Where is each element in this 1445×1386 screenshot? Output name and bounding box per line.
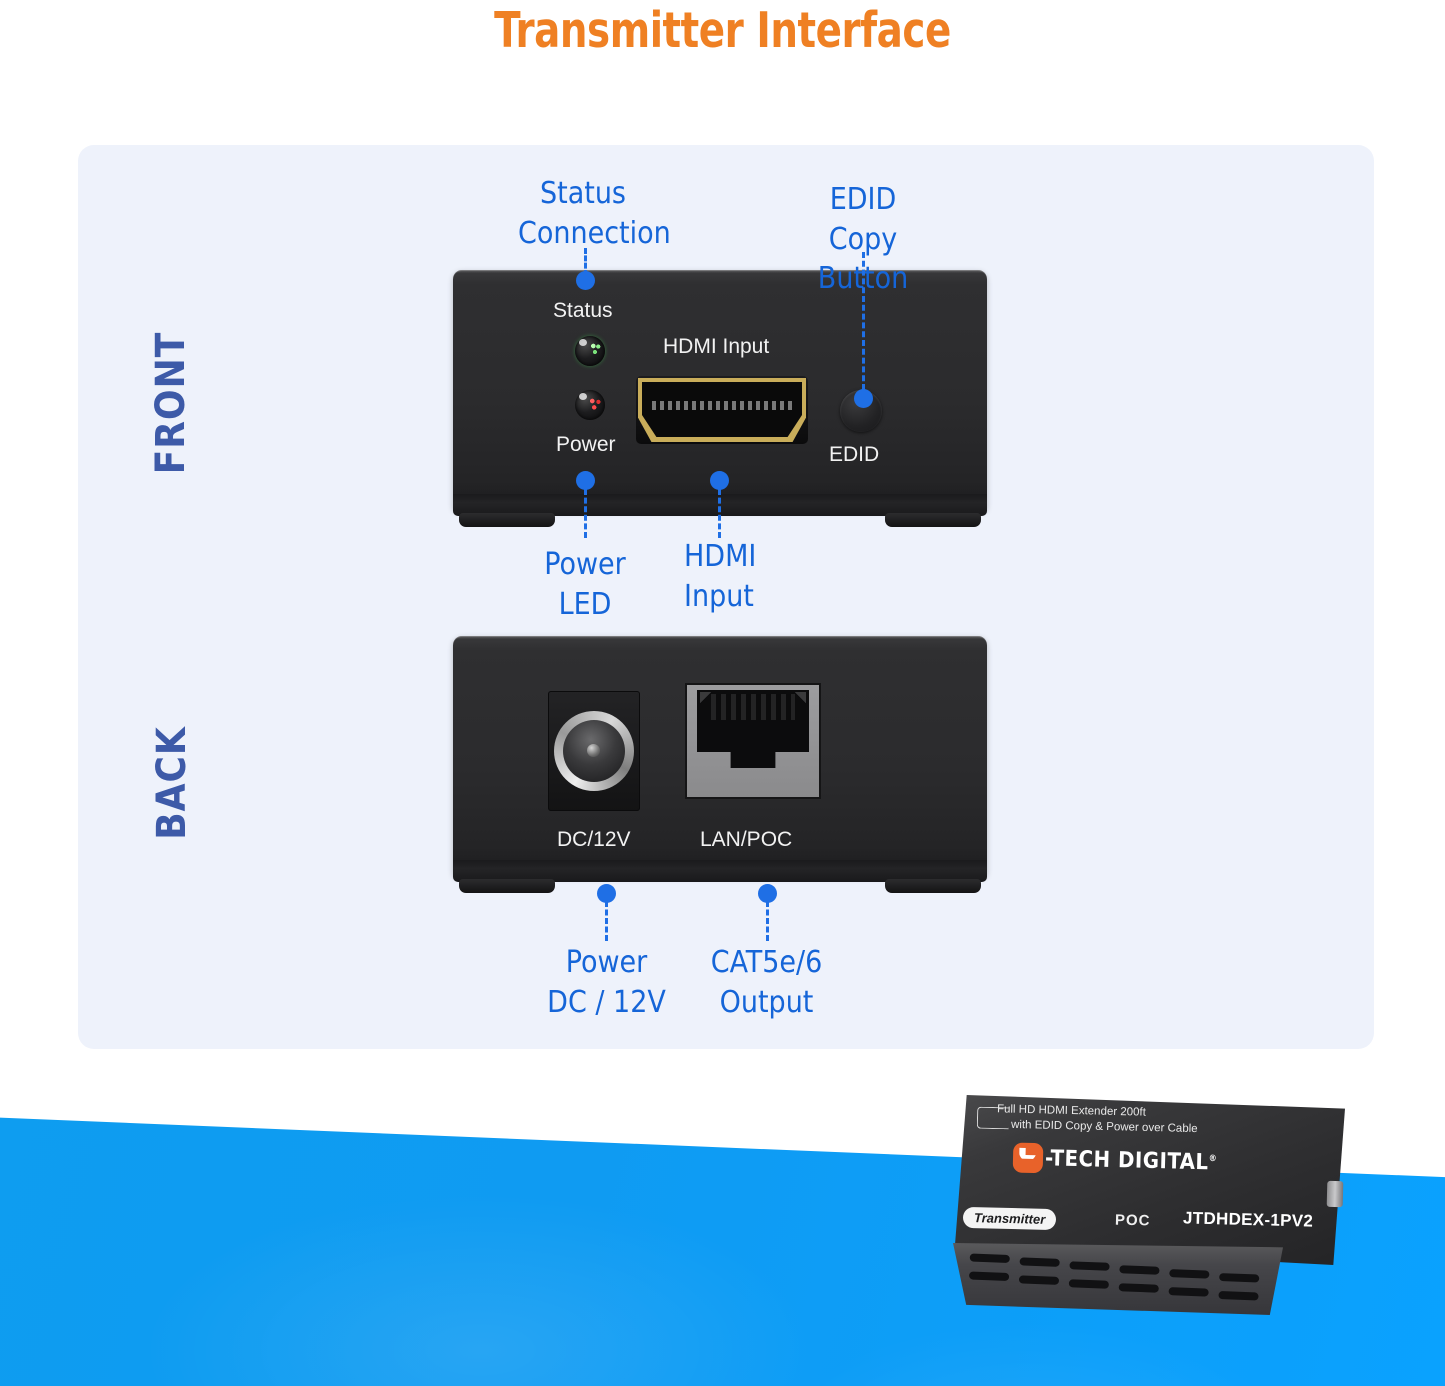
- dc-jack-pin: [587, 744, 600, 757]
- dot-edid-copy: [854, 389, 873, 408]
- j-swoosh-icon: [1013, 1143, 1044, 1174]
- transmitter-badge: Transmitter: [963, 1207, 1057, 1230]
- leader-cat5e-output: [766, 901, 769, 941]
- brand-name: -TECH DIGITAL®: [1045, 1146, 1218, 1175]
- edid-label: EDID: [829, 443, 879, 467]
- power-label: Power: [556, 433, 616, 457]
- side-label-front: FRONT: [148, 318, 194, 488]
- page-title: Transmitter Interface: [87, 2, 1359, 59]
- lan-label: LAN/POC: [700, 828, 792, 852]
- rj45-pins: [711, 694, 795, 720]
- side-label-back: BACK: [149, 703, 195, 863]
- status-label: Status: [553, 299, 613, 323]
- back-chassis-foot-right: [885, 879, 981, 893]
- product-photo: Full HD HDMI Extender 200ft with EDID Co…: [945, 1095, 1345, 1325]
- callout-power-dc: Power DC / 12V: [534, 943, 679, 1022]
- leader-power-dc: [605, 901, 608, 941]
- chassis-foot-left: [459, 513, 555, 527]
- dot-status-connection: [576, 271, 595, 290]
- power-led: [575, 390, 605, 420]
- hdmi-input-label: HDMI Input: [663, 335, 769, 359]
- callout-power-led: Power LED: [524, 545, 646, 624]
- hdmi-pins: [652, 401, 792, 410]
- rj45-port[interactable]: [697, 690, 809, 790]
- chassis-foot-right: [885, 513, 981, 527]
- back-panel-device: DC/12V LAN/POC: [453, 636, 987, 898]
- callout-cat5e-output: CAT5e/6 Output: [700, 943, 833, 1022]
- rj45-bezel: [685, 683, 821, 799]
- dot-hdmi-input: [710, 471, 729, 490]
- hdmi-port[interactable]: [636, 376, 808, 444]
- leader-power-led: [584, 489, 587, 538]
- dc-label: DC/12V: [557, 828, 631, 852]
- leader-edid-copy: [862, 252, 865, 390]
- brand-logo: -TECH DIGITAL®: [1013, 1143, 1218, 1178]
- callout-hdmi-input: HDMI Input: [684, 537, 814, 616]
- dot-power-led: [576, 471, 595, 490]
- status-led: [575, 336, 605, 366]
- poc-marking: POC: [1115, 1212, 1151, 1230]
- model-number: JTDHDEX-1PV2: [1183, 1208, 1314, 1231]
- registered-mark: ®: [1209, 1153, 1218, 1163]
- leader-hdmi-input: [718, 489, 721, 538]
- brand-text: -TECH DIGITAL: [1045, 1146, 1209, 1175]
- callout-status-connection: Status Connection: [518, 174, 648, 253]
- back-chassis-foot-left: [459, 879, 555, 893]
- side-connector: [1327, 1181, 1344, 1207]
- dc-power-jack[interactable]: [548, 691, 640, 811]
